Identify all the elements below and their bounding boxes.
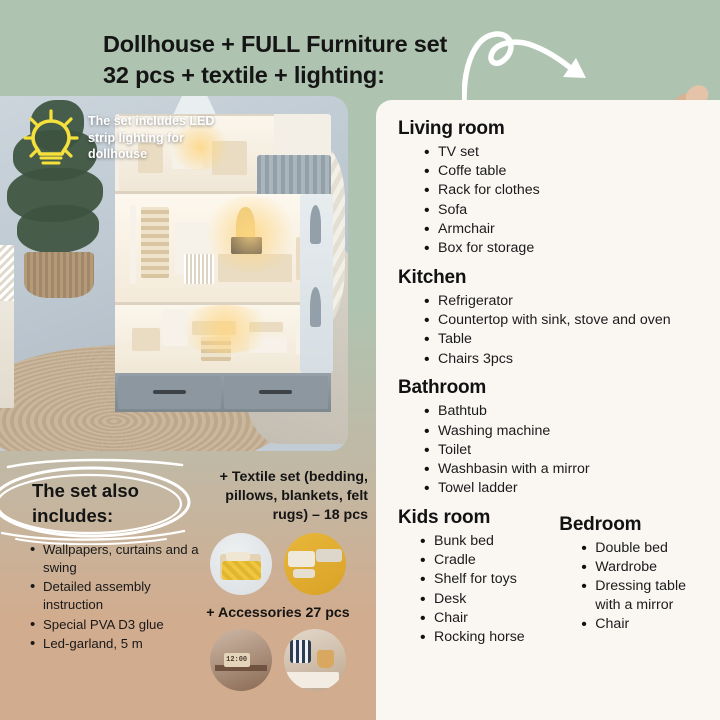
lightbulb-icon — [22, 108, 80, 168]
basket — [24, 252, 94, 298]
list-item: Bunk bed — [420, 532, 545, 551]
room-heading-bathroom: Bathroom — [398, 377, 702, 399]
list-item: Toilet — [424, 441, 702, 460]
house-side-wall — [300, 194, 332, 373]
set-also-heading: The set also includes: — [32, 479, 192, 529]
drawer[interactable] — [224, 376, 327, 409]
set-also-list: Wallpapers, curtains and a swing Detaile… — [30, 541, 205, 655]
set-also-includes-block: The set also includes: Wallpapers, curta… — [0, 455, 200, 720]
list-item: Special PVA D3 glue — [30, 616, 205, 634]
balcony — [257, 155, 330, 197]
infographic-page: Dollhouse + FULL Furniture set 32 pcs + … — [0, 0, 720, 720]
accessories-title: + Accessories 27 pcs — [188, 605, 368, 621]
set-heading-line-2: includes: — [32, 505, 113, 526]
list-item: Wallpapers, curtains and a swing — [30, 541, 205, 576]
textile-accessories-block: + Textile set (bedding, pillows, blanket… — [188, 468, 368, 691]
room-heading-kids-room: Kids room — [398, 507, 545, 529]
upper-floor — [115, 194, 331, 301]
list-item: Countertop with sink, stove and oven — [424, 311, 702, 330]
textile-photo-row — [188, 533, 368, 595]
list-item: Washing machine — [424, 422, 702, 441]
title-line-1: Dollhouse + FULL Furniture set — [103, 31, 447, 57]
list-item: Refrigerator — [424, 292, 702, 311]
room-list-bathroom: Bathtub Washing machine Toilet Washbasin… — [398, 402, 702, 498]
led-badge-text: The set includes LED strip lighting for … — [88, 113, 238, 163]
room-heading-living-room: Living room — [398, 118, 702, 140]
list-item: Shelf for toys — [420, 570, 545, 589]
folded-textile-photo — [284, 533, 346, 595]
kids-bedroom-columns: Kids room Bunk bed Cradle Shelf for toys… — [398, 507, 702, 656]
list-item: Detailed assembly instruction — [30, 578, 205, 613]
dollhouse-photo: The set includes LED strip lighting for … — [0, 96, 348, 451]
list-item: Towel ladder — [424, 479, 702, 498]
page-title: Dollhouse + FULL Furniture set 32 pcs + … — [103, 29, 503, 91]
list-item: Chair — [581, 615, 702, 634]
list-item: Double bed — [581, 539, 702, 558]
room-list-kitchen: Refrigerator Countertop with sink, stove… — [398, 292, 702, 368]
porch — [0, 245, 14, 408]
room-list-living-room: TV set Coffe table Rack for clothes Sofa… — [398, 143, 702, 258]
list-item: Wardrobe — [581, 558, 702, 577]
bedroom-column: Bedroom Double bed Wardrobe Dressing tab… — [559, 507, 702, 656]
list-item: Table — [424, 330, 702, 349]
header: Dollhouse + FULL Furniture set 32 pcs + … — [0, 0, 720, 95]
drawer[interactable] — [118, 376, 221, 409]
clock-time: 12:00 — [224, 653, 250, 667]
bed-with-bedding-photo — [210, 533, 272, 595]
list-item: Sofa — [424, 201, 702, 220]
curved-arrow-icon — [462, 22, 602, 102]
room-heading-kitchen: Kitchen — [398, 267, 702, 289]
room-heading-bedroom: Bedroom — [559, 514, 702, 536]
title-line-2: 32 pcs + textile + lighting: — [103, 60, 503, 91]
list-item: Cradle — [420, 551, 545, 570]
set-heading-line-1: The set also — [32, 480, 139, 501]
list-item: Bathtub — [424, 402, 702, 421]
list-item: Dressing table with a mirror — [581, 577, 702, 614]
list-item: Desk — [420, 590, 545, 609]
list-item: Chair — [420, 609, 545, 628]
list-item: Washbasin with a mirror — [424, 460, 702, 479]
accessories-photo-row: 12:00 — [188, 629, 368, 691]
room-contents-panel: Living room TV set Coffe table Rack for … — [376, 100, 720, 720]
room-list-kids-room: Bunk bed Cradle Shelf for toys Desk Chai… — [398, 532, 545, 647]
clock-shelf-photo: 12:00 — [210, 629, 272, 691]
list-item: Armchair — [424, 220, 702, 239]
list-item: TV set — [424, 143, 702, 162]
list-item: Rocking horse — [420, 628, 545, 647]
list-item: Chairs 3pcs — [424, 350, 702, 369]
plant-and-clothes-photo — [284, 629, 346, 691]
list-item: Coffe table — [424, 162, 702, 181]
storage-drawers — [115, 373, 331, 412]
room-list-bedroom: Double bed Wardrobe Dressing table with … — [559, 539, 702, 634]
kids-room-column: Kids room Bunk bed Cradle Shelf for toys… — [398, 507, 545, 656]
list-item: Box for storage — [424, 239, 702, 258]
list-item: Rack for clothes — [424, 181, 702, 200]
list-item: Led-garland, 5 m — [30, 635, 205, 653]
textile-set-title: + Textile set (bedding, pillows, blanket… — [188, 468, 368, 525]
ground-floor — [115, 305, 331, 374]
led-badge: The set includes LED strip lighting for … — [14, 104, 244, 172]
